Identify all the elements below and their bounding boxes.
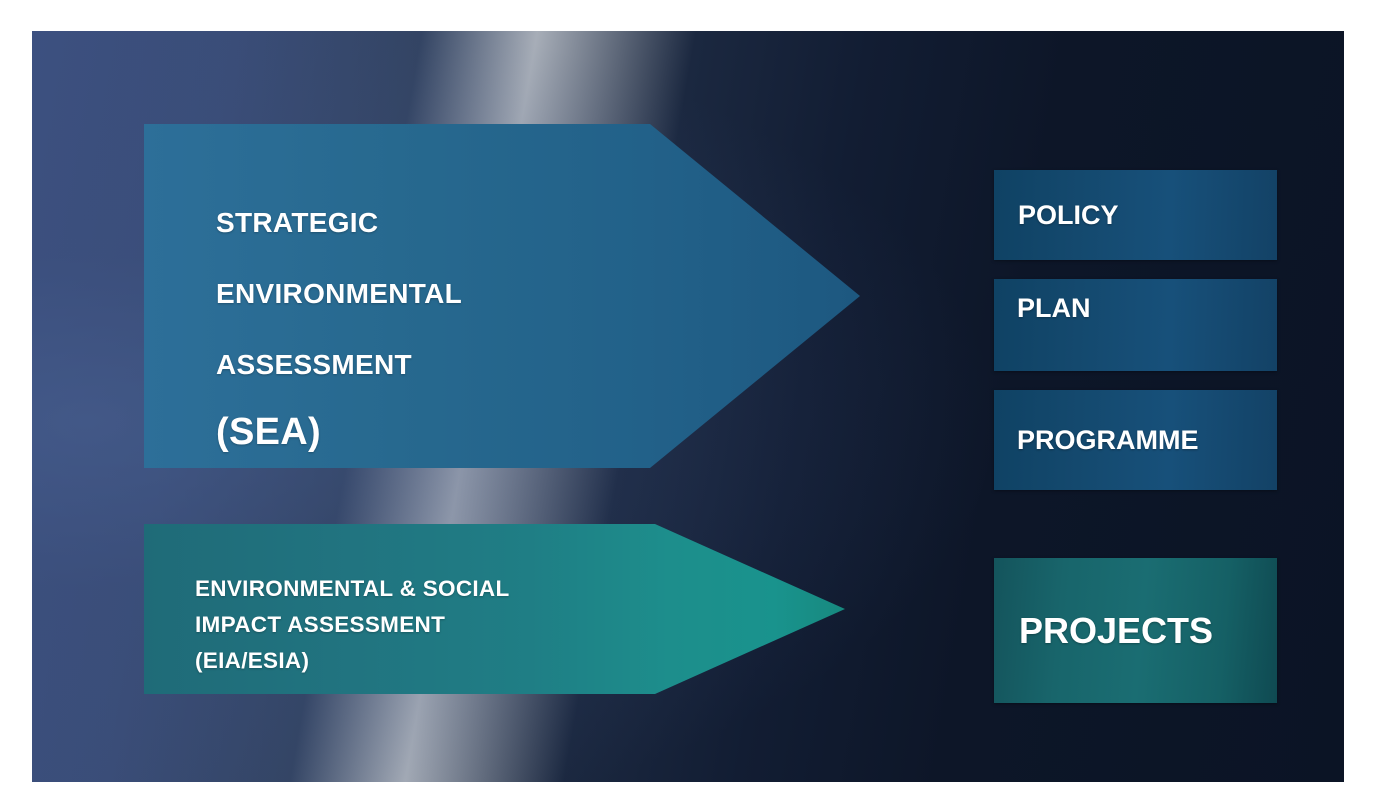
slide-canvas: STRATEGIC ENVIRONMENTAL ASSESSMENT (SEA)… xyxy=(32,31,1344,782)
plan-box-label: PLAN xyxy=(1017,293,1091,324)
policy-box[interactable]: POLICY xyxy=(994,170,1277,260)
programme-box-label: PROGRAMME xyxy=(1017,425,1199,456)
sea-arrow-shape[interactable] xyxy=(144,124,860,468)
screenshot-root: STRATEGIC ENVIRONMENTAL ASSESSMENT (SEA)… xyxy=(0,0,1374,812)
policy-box-label: POLICY xyxy=(1018,200,1119,231)
programme-box[interactable]: PROGRAMME xyxy=(994,390,1277,490)
projects-box[interactable]: PROJECTS xyxy=(994,558,1277,703)
projects-box-label: PROJECTS xyxy=(1019,610,1213,652)
eia-arrow-shape[interactable] xyxy=(144,524,845,694)
plan-box[interactable]: PLAN xyxy=(994,279,1277,371)
